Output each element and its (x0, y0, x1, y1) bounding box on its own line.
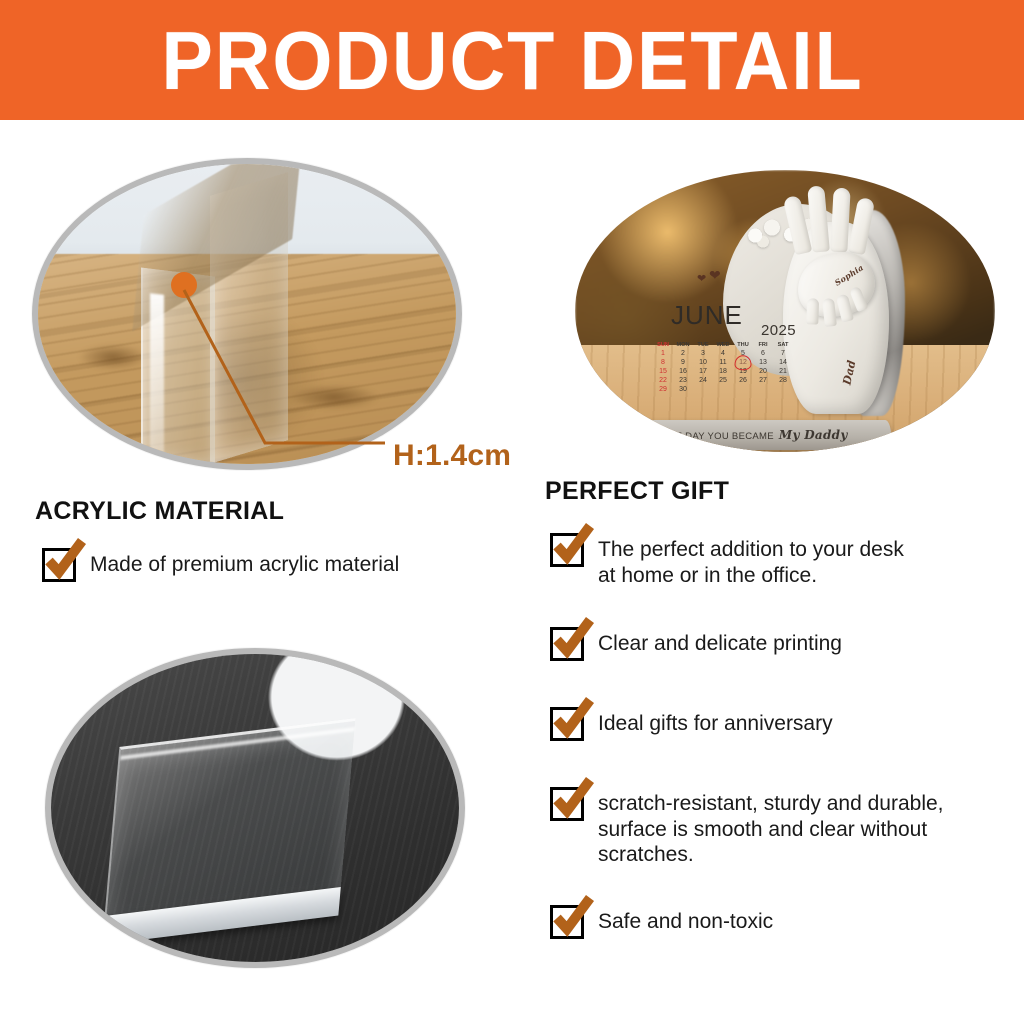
calendar-weekday-header: WED (713, 342, 733, 348)
calendar-day: 2 (673, 350, 693, 357)
acrylic-slab (104, 718, 355, 918)
heart-icon: ❤ (709, 268, 721, 282)
plaque-line: THE DAY YOU BECAME (662, 431, 774, 442)
calendar-day: 26 (733, 377, 753, 384)
acrylic-edge-photo (32, 158, 462, 470)
calendar-day: 6 (753, 350, 773, 357)
finger (830, 188, 850, 253)
calendar-weekday-header: SAT (773, 342, 793, 348)
calendar-weekday-header: FRI (753, 342, 773, 348)
plaque-text: THE DAY YOU BECAMEMy Daddy (619, 428, 891, 442)
page-title: PRODUCT DETAIL (161, 19, 863, 102)
calendar-day: 24 (693, 377, 713, 384)
calendar-day-empty (753, 386, 773, 393)
calendar-day: 1 (653, 350, 673, 357)
calendar-day: 11 (713, 359, 733, 366)
calendar-day: 29 (653, 386, 673, 393)
calendar-day-empty (693, 386, 713, 393)
calendar-day-empty (713, 386, 733, 393)
checkbox-checked-icon (42, 548, 76, 582)
calendar-day: 17 (693, 368, 713, 375)
calendar-weekday-header: THU (733, 342, 753, 348)
checkbox-checked-icon (550, 905, 584, 939)
acrylic-edge-highlight (150, 293, 164, 454)
checkbox-checked-icon (550, 787, 584, 821)
calendar-day: 25 (713, 377, 733, 384)
base-plaque: THE DAY YOU BECAMEMy Daddy (619, 420, 891, 450)
calendar-weekday-header: SUN (653, 342, 673, 348)
dimension-label: H:1.4cm (393, 439, 511, 473)
finger (822, 298, 837, 327)
finger (806, 298, 819, 324)
calendar-day: 18 (713, 368, 733, 375)
feature-item: The perfect addition to your desk at hom… (550, 533, 1000, 588)
calendar-day: 8 (653, 359, 673, 366)
calendar-day: 20 (753, 368, 773, 375)
feature-item: Safe and non-toxic (550, 905, 1000, 939)
calendar-year: 2025 (761, 322, 796, 339)
calendar-grid: SUNMONTUEWEDTHUFRISAT1234567891011121314… (653, 342, 793, 393)
header-banner: PRODUCT DETAIL (0, 0, 1024, 120)
feature-item: Clear and delicate printing (550, 627, 1000, 661)
feature-text: The perfect addition to your desk at hom… (598, 533, 904, 588)
calendar-day: 27 (753, 377, 773, 384)
calendar-day: 3 (693, 350, 713, 357)
calendar-day-empty (733, 386, 753, 393)
calendar-day: 14 (773, 359, 793, 366)
calendar-day: 13 (753, 359, 773, 366)
calendar-day: 4 (713, 350, 733, 357)
feature-text: Made of premium acrylic material (90, 548, 399, 578)
calendar-day: 15 (653, 368, 673, 375)
calendar-day: 23 (673, 377, 693, 384)
calendar-day: 30 (673, 386, 693, 393)
checkbox-checked-icon (550, 533, 584, 567)
feature-text: scratch-resistant, sturdy and durable, s… (598, 787, 944, 868)
checkbox-checked-icon (550, 707, 584, 741)
calendar-day: 12 (733, 359, 753, 366)
dimension-callout-dot (171, 272, 197, 298)
feature-text: Clear and delicate printing (598, 627, 842, 657)
calendar-day: 21 (773, 368, 793, 375)
feature-text: Safe and non-toxic (598, 905, 773, 935)
feature-item: Made of premium acrylic material (42, 548, 512, 582)
calendar-day: 9 (673, 359, 693, 366)
calendar-day: 16 (673, 368, 693, 375)
plaque-script: My Daddy (779, 428, 848, 442)
calendar-weekday-header: MON (673, 342, 693, 348)
calendar-day: 7 (773, 350, 793, 357)
calendar-day: 28 (773, 377, 793, 384)
slab-top-face (104, 718, 355, 918)
calendar-month: JUNE (671, 300, 743, 331)
finger (849, 286, 868, 312)
product-detail-page: PRODUCT DETAIL H:1.4cm (0, 0, 1024, 1024)
acrylic-slab-photo (45, 648, 465, 968)
wood-knot (78, 344, 148, 370)
feature-item: scratch-resistant, sturdy and durable, s… (550, 787, 1010, 868)
heart-icon: ❤ (697, 274, 706, 285)
section-title-perfect-gift: PERFECT GIFT (545, 477, 729, 506)
calendar-day: 10 (693, 359, 713, 366)
feature-item: Ideal gifts for anniversary (550, 707, 1000, 741)
calendar-day-empty (773, 386, 793, 393)
checkbox-checked-icon (550, 627, 584, 661)
calendar-keepsake-photo: Sophia Dad ❤ ❤ JUNE 2025 SUNMONTUEWEDTHU… (575, 170, 995, 452)
feature-text: Ideal gifts for anniversary (598, 707, 833, 737)
section-title-acrylic-material: ACRYLIC MATERIAL (35, 497, 284, 526)
calendar-weekday-header: TUE (693, 342, 713, 348)
calendar-day: 22 (653, 377, 673, 384)
